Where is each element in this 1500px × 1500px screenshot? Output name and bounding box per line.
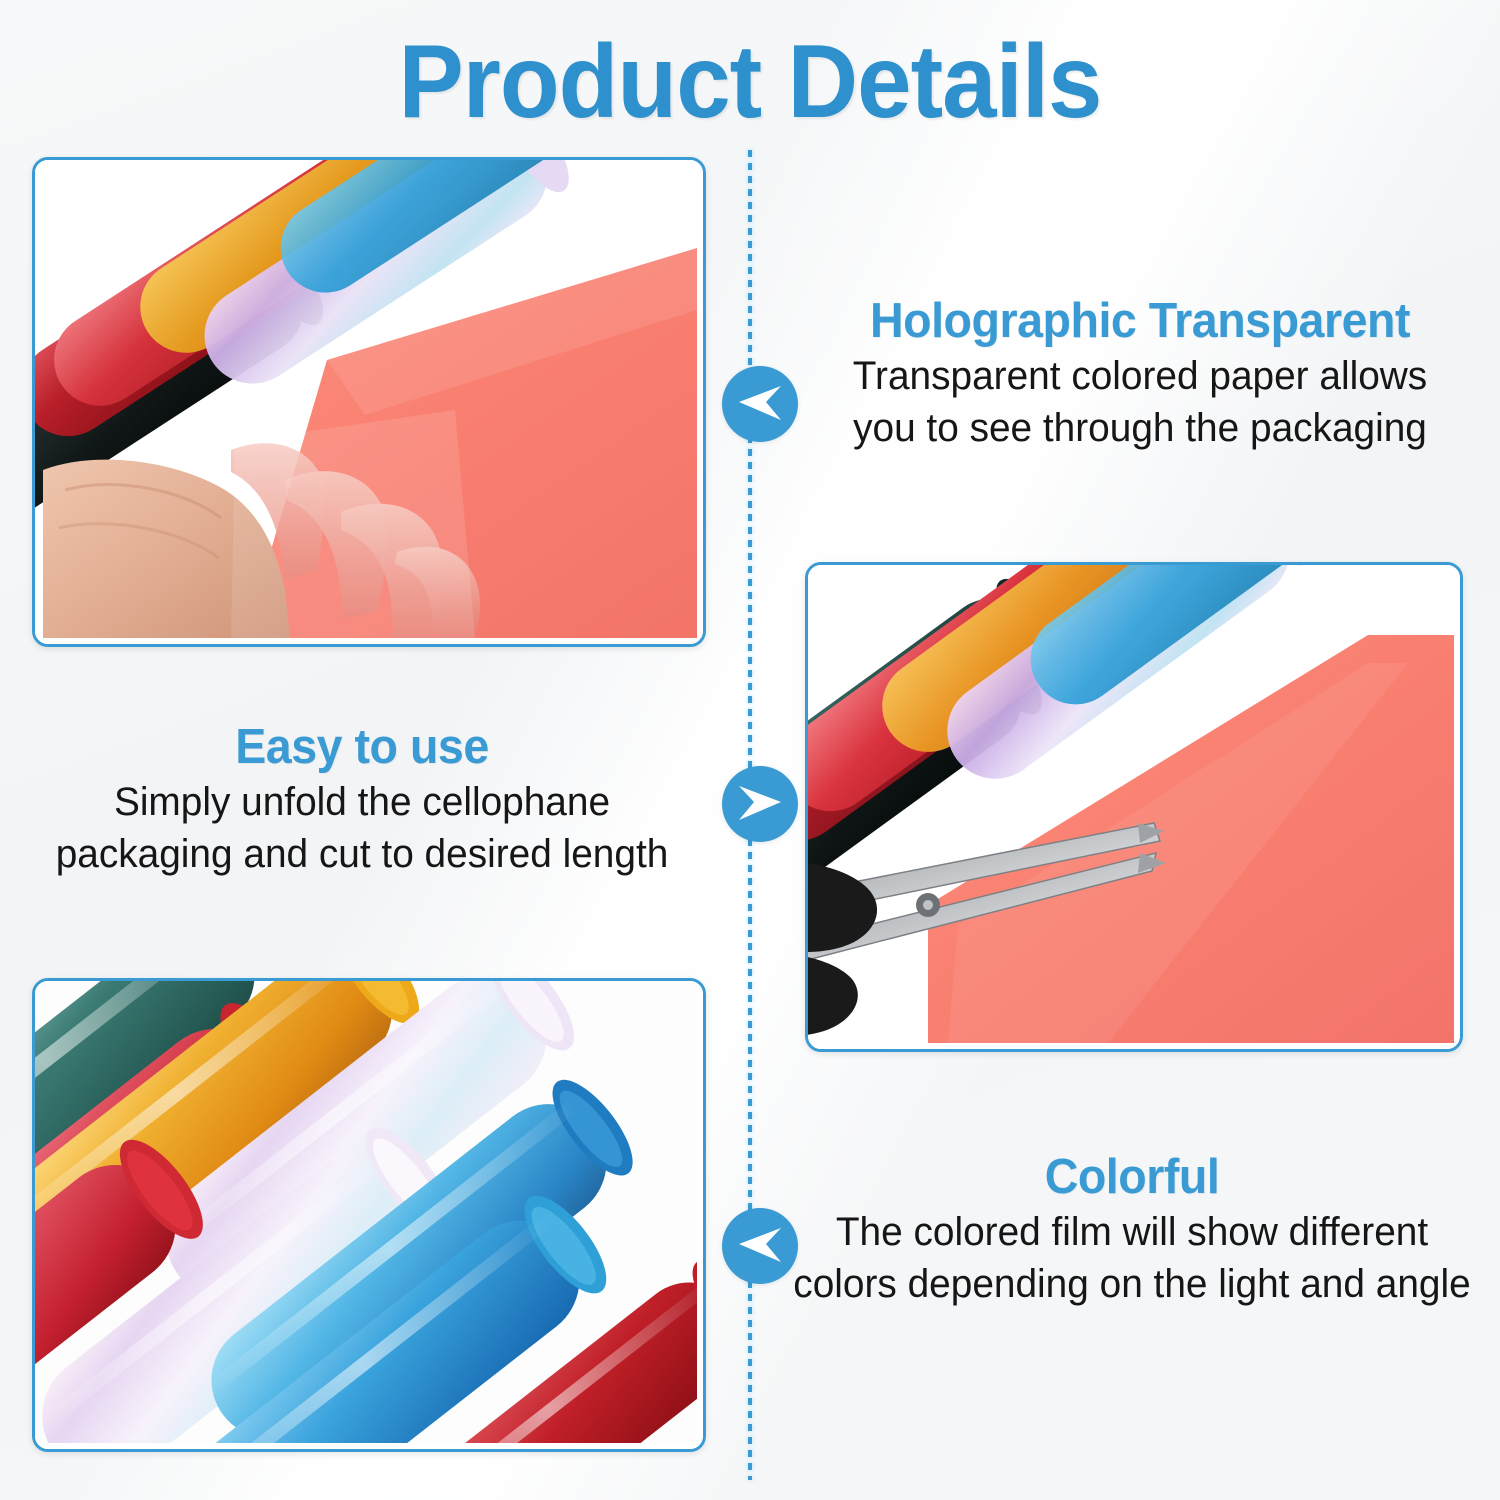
photo-card-easy-to-use: [805, 562, 1463, 1052]
arrow-left-icon: [737, 1226, 783, 1266]
feature-body-line1-holographic: Transparent colored paper allows: [801, 350, 1480, 402]
feature-heading-colorful: Colorful: [800, 1148, 1465, 1206]
feature-heading-holographic: Holographic Transparent: [808, 292, 1473, 350]
arrow-right-icon-marker-2: [722, 766, 798, 842]
feature-heading-easy-to-use: Easy to use: [39, 718, 685, 776]
arrow-right-icon: [737, 784, 783, 824]
feature-text-colorful: Colorful The colored film will show diff…: [782, 1148, 1482, 1310]
page-title: Product Details: [45, 22, 1455, 142]
photo-3-illustration: [35, 981, 697, 1443]
arrow-left-icon-marker-1: [722, 366, 798, 442]
feature-body-line2-colorful: colors depending on the light and angle: [793, 1258, 1472, 1310]
feature-text-easy-to-use: Easy to use Simply unfold the cellophane…: [22, 718, 702, 880]
feature-body-line2-easy-to-use: packaging and cut to desired length: [32, 828, 692, 880]
feature-body-line1-easy-to-use: Simply unfold the cellophane: [32, 776, 692, 828]
feature-body-line1-colorful: The colored film will show different: [793, 1206, 1472, 1258]
infographic-page: Product Details: [0, 0, 1500, 1500]
photo-scissors-cutting: [808, 565, 1460, 1049]
arrow-left-icon: [737, 384, 783, 424]
photo-hand-holding-sheet: [35, 160, 703, 644]
photo-1-illustration: [35, 160, 697, 638]
photo-2-illustration: [808, 565, 1454, 1043]
photo-card-holographic: [32, 157, 706, 647]
feature-body-line2-holographic: you to see through the packaging: [801, 402, 1480, 454]
feature-text-holographic: Holographic Transparent Transparent colo…: [790, 292, 1490, 454]
arrow-left-icon-marker-3: [722, 1208, 798, 1284]
photo-colorful-rolls: [35, 981, 703, 1449]
photo-card-colorful: [32, 978, 706, 1452]
